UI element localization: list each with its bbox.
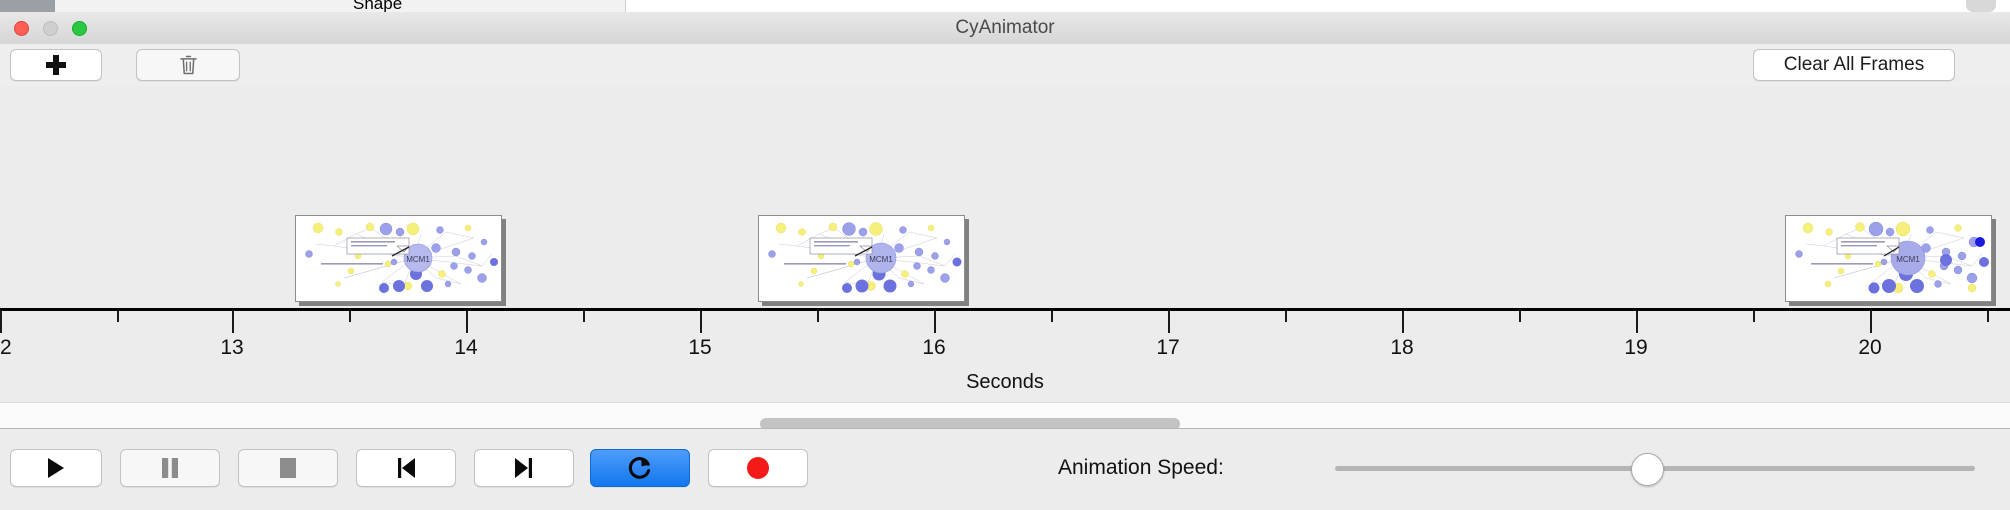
animation-speed-slider-thumb[interactable] (1631, 453, 1664, 486)
timeline-tick-major (700, 311, 702, 333)
trash-icon (179, 54, 198, 76)
timeline-tick-label: 18 (1390, 336, 1413, 360)
skip-forward-icon (513, 456, 535, 480)
timeline-tick-label: 16 (922, 336, 945, 360)
frame-thumbnail-1[interactable]: MCM1 (295, 215, 502, 302)
timeline-axis (0, 308, 2010, 311)
timeline-tick-major (466, 311, 468, 333)
timeline-tick-minor (583, 311, 585, 322)
animation-speed-label: Animation Speed: (1058, 449, 1224, 487)
play-icon (45, 456, 67, 480)
clear-all-frames-button[interactable]: Clear All Frames (1753, 49, 1955, 81)
svg-text:MCM1: MCM1 (869, 255, 893, 264)
skip-back-icon (395, 456, 417, 480)
background-tab-2 (55, 0, 186, 12)
play-button[interactable] (10, 449, 102, 487)
timeline-tick-label: 14 (454, 336, 477, 360)
timeline-tick-minor (349, 311, 351, 322)
timeline-tick-major (1402, 311, 1404, 333)
timeline-tick-label: 15 (688, 336, 711, 360)
pause-button[interactable] (120, 449, 220, 487)
frame-thumbnail-2[interactable]: MCM1 (758, 215, 965, 302)
title-bar: CyAnimator (0, 12, 2010, 45)
page-title: CyAnimator (0, 12, 2010, 44)
background-tab-6 (495, 0, 626, 12)
timeline-tick-major (1636, 311, 1638, 333)
timeline-tick-label: 17 (1156, 336, 1179, 360)
timeline-panel[interactable]: MCM1 (0, 86, 2010, 402)
timeline-tick-minor (1753, 311, 1755, 322)
timeline-tick-minor (1051, 311, 1053, 322)
stop-button[interactable] (238, 449, 338, 487)
skip-to-end-button[interactable] (474, 449, 574, 487)
background-tab-3 (185, 0, 306, 12)
delete-frame-button[interactable] (136, 49, 240, 81)
background-window-corner (1966, 0, 1996, 12)
timeline-tick-minor (817, 311, 819, 322)
playback-controls: Animation Speed: (0, 428, 2010, 510)
timeline-scrollbar[interactable] (0, 402, 2010, 429)
cyanimator-window: Shape CyAnimator Clear All Frames (0, 0, 2010, 510)
timeline-tick-label: 13 (220, 336, 243, 360)
timeline-tick-label: 12 (0, 336, 12, 360)
timeline-tick-major (0, 311, 2, 333)
toolbar: Clear All Frames (0, 44, 2010, 87)
stop-icon (278, 457, 298, 479)
svg-text:MCM1: MCM1 (406, 255, 430, 264)
record-button[interactable] (708, 449, 808, 487)
timeline-tick-major (1168, 311, 1170, 333)
timeline-tick-label: 20 (1858, 336, 1881, 360)
loop-icon (627, 455, 653, 481)
timeline-tick-minor (117, 311, 119, 322)
pause-icon (160, 457, 180, 479)
skip-to-start-button[interactable] (356, 449, 456, 487)
timeline-tick-minor (1285, 311, 1287, 322)
plus-icon (46, 55, 66, 75)
svg-text:MCM1: MCM1 (1896, 255, 1920, 264)
timeline-tick-major (1870, 311, 1872, 333)
timeline-tick-major (934, 311, 936, 333)
frame-thumbnail-3[interactable]: MCM1 (1785, 215, 1992, 302)
record-icon (746, 456, 770, 480)
timeline-tick-minor (1987, 311, 1989, 322)
timeline-tick-major (232, 311, 234, 333)
timeline-tick-label: 19 (1624, 336, 1647, 360)
timeline-tick-minor (1519, 311, 1521, 322)
loop-button[interactable] (590, 449, 690, 487)
background-tab-1 (0, 0, 56, 12)
clear-all-frames-label: Clear All Frames (1784, 54, 1924, 76)
add-frame-button[interactable] (10, 49, 102, 81)
timeline-axis-title: Seconds (0, 371, 2010, 394)
